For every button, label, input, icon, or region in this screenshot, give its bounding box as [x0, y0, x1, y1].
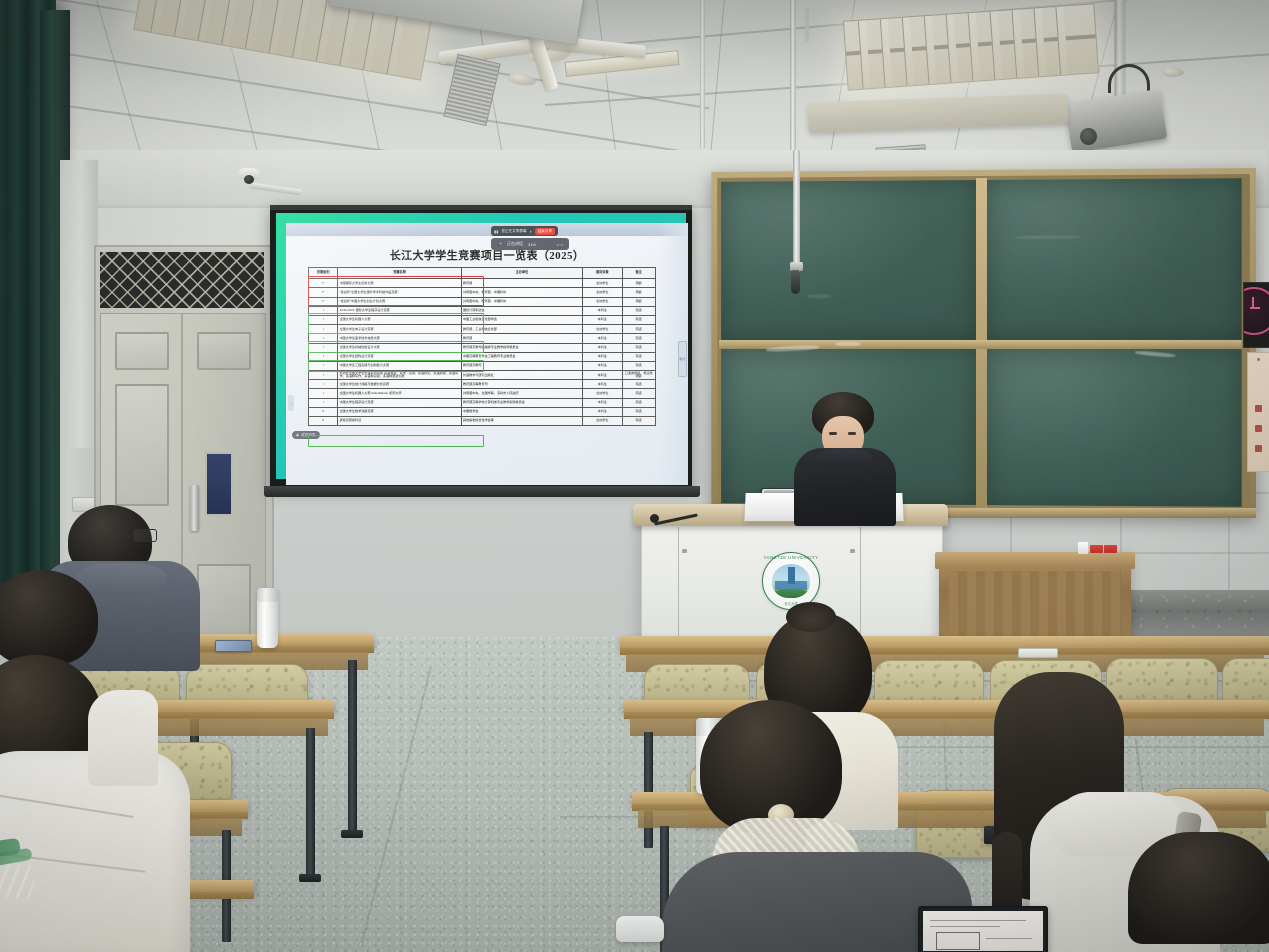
table-row: I全国大学生结构设计竞赛中国高等教育学会工程教育专业委员会本科生院选 — [309, 352, 656, 361]
table-cell: 教育部高教司机械类专业教学指导委员会 — [461, 343, 582, 352]
table-cell: 教育部 — [461, 334, 582, 343]
table-row: I中国大学生工程实践与创新能力大赛教育部高教司本科生院选 — [309, 361, 656, 370]
projection-screen: ▮▮ 您正在共享屏幕 ⏸ 结束共享 🎤 正在讲话 31% ⌄⌄ ◉ 成员列表 聊… — [270, 205, 692, 488]
table-cell: 全国大学生数学建模竞赛 — [338, 407, 461, 416]
chalk-box-2 — [1104, 545, 1117, 553]
table-cell: 院选 — [622, 334, 655, 343]
table-cell: 教育部、工业和信息化部 — [461, 325, 582, 334]
table-cell: 共青团中央、教育部、中国科协 — [461, 288, 582, 297]
table-row: I全国大学生统计建模与数据分析竞赛教育部高等教育司本科生院选 — [309, 380, 656, 389]
jacket-script — [0, 865, 34, 899]
table-cell: "挑战杯"全国大学生课外学术科技作品竞赛 — [338, 288, 461, 297]
table-cell: 院选 — [622, 325, 655, 334]
table-cell: 院选 — [622, 389, 655, 398]
remote-control — [1018, 648, 1058, 658]
hair — [1128, 832, 1269, 944]
table-row: I*中国国际大学生创新大赛教育部全校学生限额 — [309, 279, 656, 288]
table-cell: 院选 — [622, 380, 655, 389]
participants-icon: ◉ — [296, 433, 299, 437]
table-cell: I — [309, 352, 338, 361]
emblem-ring-text: YANGTZE UNIVERSITY — [763, 555, 819, 606]
table-cell: I — [309, 389, 338, 398]
table-cell: 国际计算机协会 — [461, 306, 582, 315]
expand-arrow-icon[interactable]: › — [288, 395, 294, 411]
table-cell: II — [309, 407, 338, 416]
microphone-icon[interactable]: 🎤 — [497, 242, 502, 247]
door-vision-panel — [205, 452, 233, 516]
th-organizer: 主办单位 — [461, 268, 582, 279]
table-cell: 本科生 — [583, 315, 622, 324]
eye-right — [848, 432, 856, 435]
table-cell: 全国大学生机器人大赛 — [338, 315, 461, 324]
table-cell: 本科生 — [583, 398, 622, 407]
table-cell: 院选 — [622, 417, 655, 426]
table-cell: 本科生 — [583, 343, 622, 352]
pause-share-icon[interactable]: ⏸ — [530, 229, 532, 234]
desk-leg-foot — [299, 874, 321, 882]
slide-title: 长江大学学生竞赛项目一览表（2025） — [286, 247, 688, 263]
th-audience: 面向对象 — [583, 268, 622, 279]
table-row: I外研社全国大学生外语系列竞赛·英语阅读、写作、演讲、英语辩论、英语阅读、英语写… — [309, 371, 656, 380]
table-row: II其他竞赛类科目其他各类综合性学会等全校学生院选 — [309, 417, 656, 426]
table-cell: 教育部 — [461, 279, 582, 288]
table-cell: 院选 — [622, 352, 655, 361]
thermos-bottle-left — [257, 588, 278, 648]
wall-poster — [1247, 352, 1269, 472]
competition-table: 竞赛级别 竞赛名称 主办单位 面向对象 备注 I*中国国际大学生创新大赛教育部全… — [308, 267, 656, 426]
table-cell: 教育部高等教育司 — [461, 380, 582, 389]
table-cell: 本科生 — [583, 334, 622, 343]
presenter-at-podium — [790, 392, 900, 512]
table-cell: 教育部高教司 — [461, 361, 582, 370]
screen-share-toolbar[interactable]: ▮▮ 您正在共享屏幕 ⏸ 结束共享 — [491, 226, 558, 236]
table-cell: 其他竞赛类科目 — [338, 417, 461, 426]
table-cell: I — [309, 343, 338, 352]
th-name: 竞赛名称 — [338, 268, 461, 279]
table-cell: ACM-ICPC 国际大学生程序设计竞赛 — [338, 306, 461, 315]
table-cell: 本科生 — [583, 380, 622, 389]
table-cell: 全校学生 — [583, 389, 622, 398]
table-cell: I* — [309, 279, 338, 288]
table-cell: 限额 — [622, 288, 655, 297]
table-cell: 本科生 — [583, 352, 622, 361]
table-cell: 中国工业和信息化部学会 — [461, 315, 582, 324]
desk-leg — [306, 728, 315, 878]
hair — [0, 570, 98, 666]
table-cell: 共青团中央、教育部、中国科协 — [461, 297, 582, 306]
hoodie-collar — [816, 448, 872, 468]
th-note: 备注 — [622, 268, 655, 279]
table-row: I全国大学生机器人大赛·RoboMaster 机甲大师共青团中央、全国学联、深圳… — [309, 389, 656, 398]
table-row: I全国大学生机器人大赛中国工业和信息化部学会本科生院选 — [309, 315, 656, 324]
chat-side-tab[interactable]: 聊天 — [678, 341, 687, 377]
table-cell: 全国大学生统计建模与数据分析竞赛 — [338, 380, 461, 389]
table-row: I中国大学生程序设计竞赛教育部高等学校计算机类专业教学指导委员会本科生院选 — [309, 398, 656, 407]
hanging-microphone — [791, 270, 800, 294]
green-highlight-box-4 — [308, 435, 484, 447]
blackboard-panel-tl — [721, 180, 976, 340]
table-cell: 院选 — [622, 398, 655, 407]
hair-tuft — [786, 602, 836, 632]
table-cell: 中国大学生程序设计竞赛 — [338, 398, 461, 407]
table-cell: 共青团中央、全国学联、深圳市人民政府 — [461, 389, 582, 398]
table-cell: I — [309, 315, 338, 324]
shoe — [616, 916, 664, 942]
table-cell: 中国数学会 — [461, 407, 582, 416]
table-cell: I — [309, 325, 338, 334]
smartphone-on-desk — [215, 640, 252, 652]
screen-bottom-bar — [264, 486, 700, 497]
table-cell: 限额 — [622, 297, 655, 306]
table-cell: 全国大学生机械创新设计大赛 — [338, 343, 461, 352]
table-cell: 中国国际大学生创新大赛 — [338, 279, 461, 288]
screen-teal-border: ▮▮ 您正在共享屏幕 ⏸ 结束共享 🎤 正在讲话 31% ⌄⌄ ◉ 成员列表 聊… — [276, 213, 686, 479]
table-cell: I — [309, 398, 338, 407]
table-cell: 院选 — [622, 343, 655, 352]
door-transom-grille — [100, 252, 264, 308]
table-cell: 本科生 — [583, 407, 622, 416]
projected-slide: ▮▮ 您正在共享屏幕 ⏸ 结束共享 🎤 正在讲话 31% ⌄⌄ ◉ 成员列表 聊… — [286, 223, 688, 485]
table-cell: 院选 — [622, 306, 655, 315]
classroom-photo: ▮▮ 您正在共享屏幕 ⏸ 结束共享 🎤 正在讲话 31% ⌄⌄ ◉ 成员列表 聊… — [0, 0, 1269, 952]
table-cell: 本科生 — [583, 371, 622, 380]
table-cell: 院选 — [622, 361, 655, 370]
table-cell: 其他各类综合性学会等 — [461, 417, 582, 426]
th-level: 竞赛级别 — [309, 268, 338, 279]
table-cell: I* — [309, 288, 338, 297]
desk-leg — [348, 660, 357, 834]
table-header-row: 竞赛级别 竞赛名称 主办单位 面向对象 备注 — [309, 268, 656, 279]
stop-share-button[interactable]: 结束共享 — [535, 228, 555, 235]
table-cell: 口语类限额、笔试类限额 — [622, 371, 655, 380]
table-row: II全国大学生数学建模竞赛中国数学会本科生院选 — [309, 407, 656, 416]
chalk-box-1 — [1090, 545, 1103, 553]
table-row: I*"挑战杯"中国大学生创业计划大赛共青团中央、教育部、中国科协全校学生限额 — [309, 297, 656, 306]
screen-share-icon: ▮▮ — [494, 229, 498, 234]
table-cell: 全国大学生机器人大赛·RoboMaster 机甲大师 — [338, 389, 461, 398]
table-row: I*"挑战杯"全国大学生课外学术科技作品竞赛共青团中央、教育部、中国科协全校学生… — [309, 288, 656, 297]
table-cell: 全国大学生结构设计竞赛 — [338, 352, 461, 361]
table-cell: 院选 — [622, 315, 655, 324]
desk-leg-foot — [341, 830, 363, 838]
table-cell: 全校学生 — [583, 288, 622, 297]
slide-window-titlebar — [286, 223, 688, 236]
share-status-label: 您正在共享屏幕 — [501, 229, 526, 234]
table-cell: I — [309, 306, 338, 315]
table-cell: 中国大学生医学技术技能大赛 — [338, 334, 461, 343]
table-cell: I — [309, 334, 338, 343]
participants-label: 成员列表 — [301, 433, 315, 438]
table-cell: 全校学生 — [583, 417, 622, 426]
table-cell: 全校学生 — [583, 325, 622, 334]
table-cell: 中国高等教育学会工程教育专业委员会 — [461, 352, 582, 361]
participants-badge[interactable]: ◉ 成员列表 — [292, 431, 320, 439]
blackboard-panel-tr — [986, 178, 1242, 340]
table-cell: 本科生 — [583, 306, 622, 315]
chalk-holder — [1078, 542, 1088, 554]
table-cell: 全校学生 — [583, 279, 622, 288]
table-cell: 全国大学生电子设计竞赛 — [338, 325, 461, 334]
chair-right-6[interactable] — [1222, 658, 1269, 706]
table-cell: I — [309, 371, 338, 380]
table-row: I全国大学生电子设计竞赛教育部、工业和信息化部全校学生院选 — [309, 325, 656, 334]
blackboard-panel-br — [986, 348, 1242, 507]
microphone-head-icon — [650, 514, 659, 523]
glasses — [133, 529, 157, 542]
table-cell: 中国大学生工程实践与创新能力大赛 — [338, 361, 461, 370]
tablet-device[interactable] — [918, 906, 1048, 952]
table-cell: "挑战杯"中国大学生创业计划大赛 — [338, 297, 461, 306]
table-row: IACM-ICPC 国际大学生程序设计竞赛国际计算机协会本科生院选 — [309, 306, 656, 315]
table-body: I*中国国际大学生创新大赛教育部全校学生限额I*"挑战杯"全国大学生课外学术科技… — [309, 279, 656, 426]
table-cell: I — [309, 361, 338, 370]
table-cell: 限额 — [622, 279, 655, 288]
table-cell: 全校学生 — [583, 297, 622, 306]
security-camera — [238, 168, 260, 184]
audio-count-label: 31% — [528, 242, 536, 247]
table-cell: II — [309, 417, 338, 426]
table-cell: 院选 — [622, 407, 655, 416]
table-cell: I* — [309, 297, 338, 306]
table-cell: I — [309, 380, 338, 389]
wall-clock — [1243, 282, 1269, 348]
table-cell: 本科生 — [583, 361, 622, 370]
table-cell: 外研社全国大学生外语系列竞赛·英语阅读、写作、演讲、英语辩论、英语阅读、英语写作… — [338, 371, 461, 380]
student-arm-left — [88, 690, 158, 786]
table-cell: 外语教学与研究出版社 — [461, 371, 582, 380]
table-row: I全国大学生机械创新设计大赛教育部高教司机械类专业教学指导委员会本科生院选 — [309, 343, 656, 352]
eye-left — [829, 432, 837, 435]
student-right-far — [1128, 832, 1269, 952]
table-row: I中国大学生医学技术技能大赛教育部本科生院选 — [309, 334, 656, 343]
table-cell: 教育部高等学校计算机类专业教学指导委员会 — [461, 398, 582, 407]
